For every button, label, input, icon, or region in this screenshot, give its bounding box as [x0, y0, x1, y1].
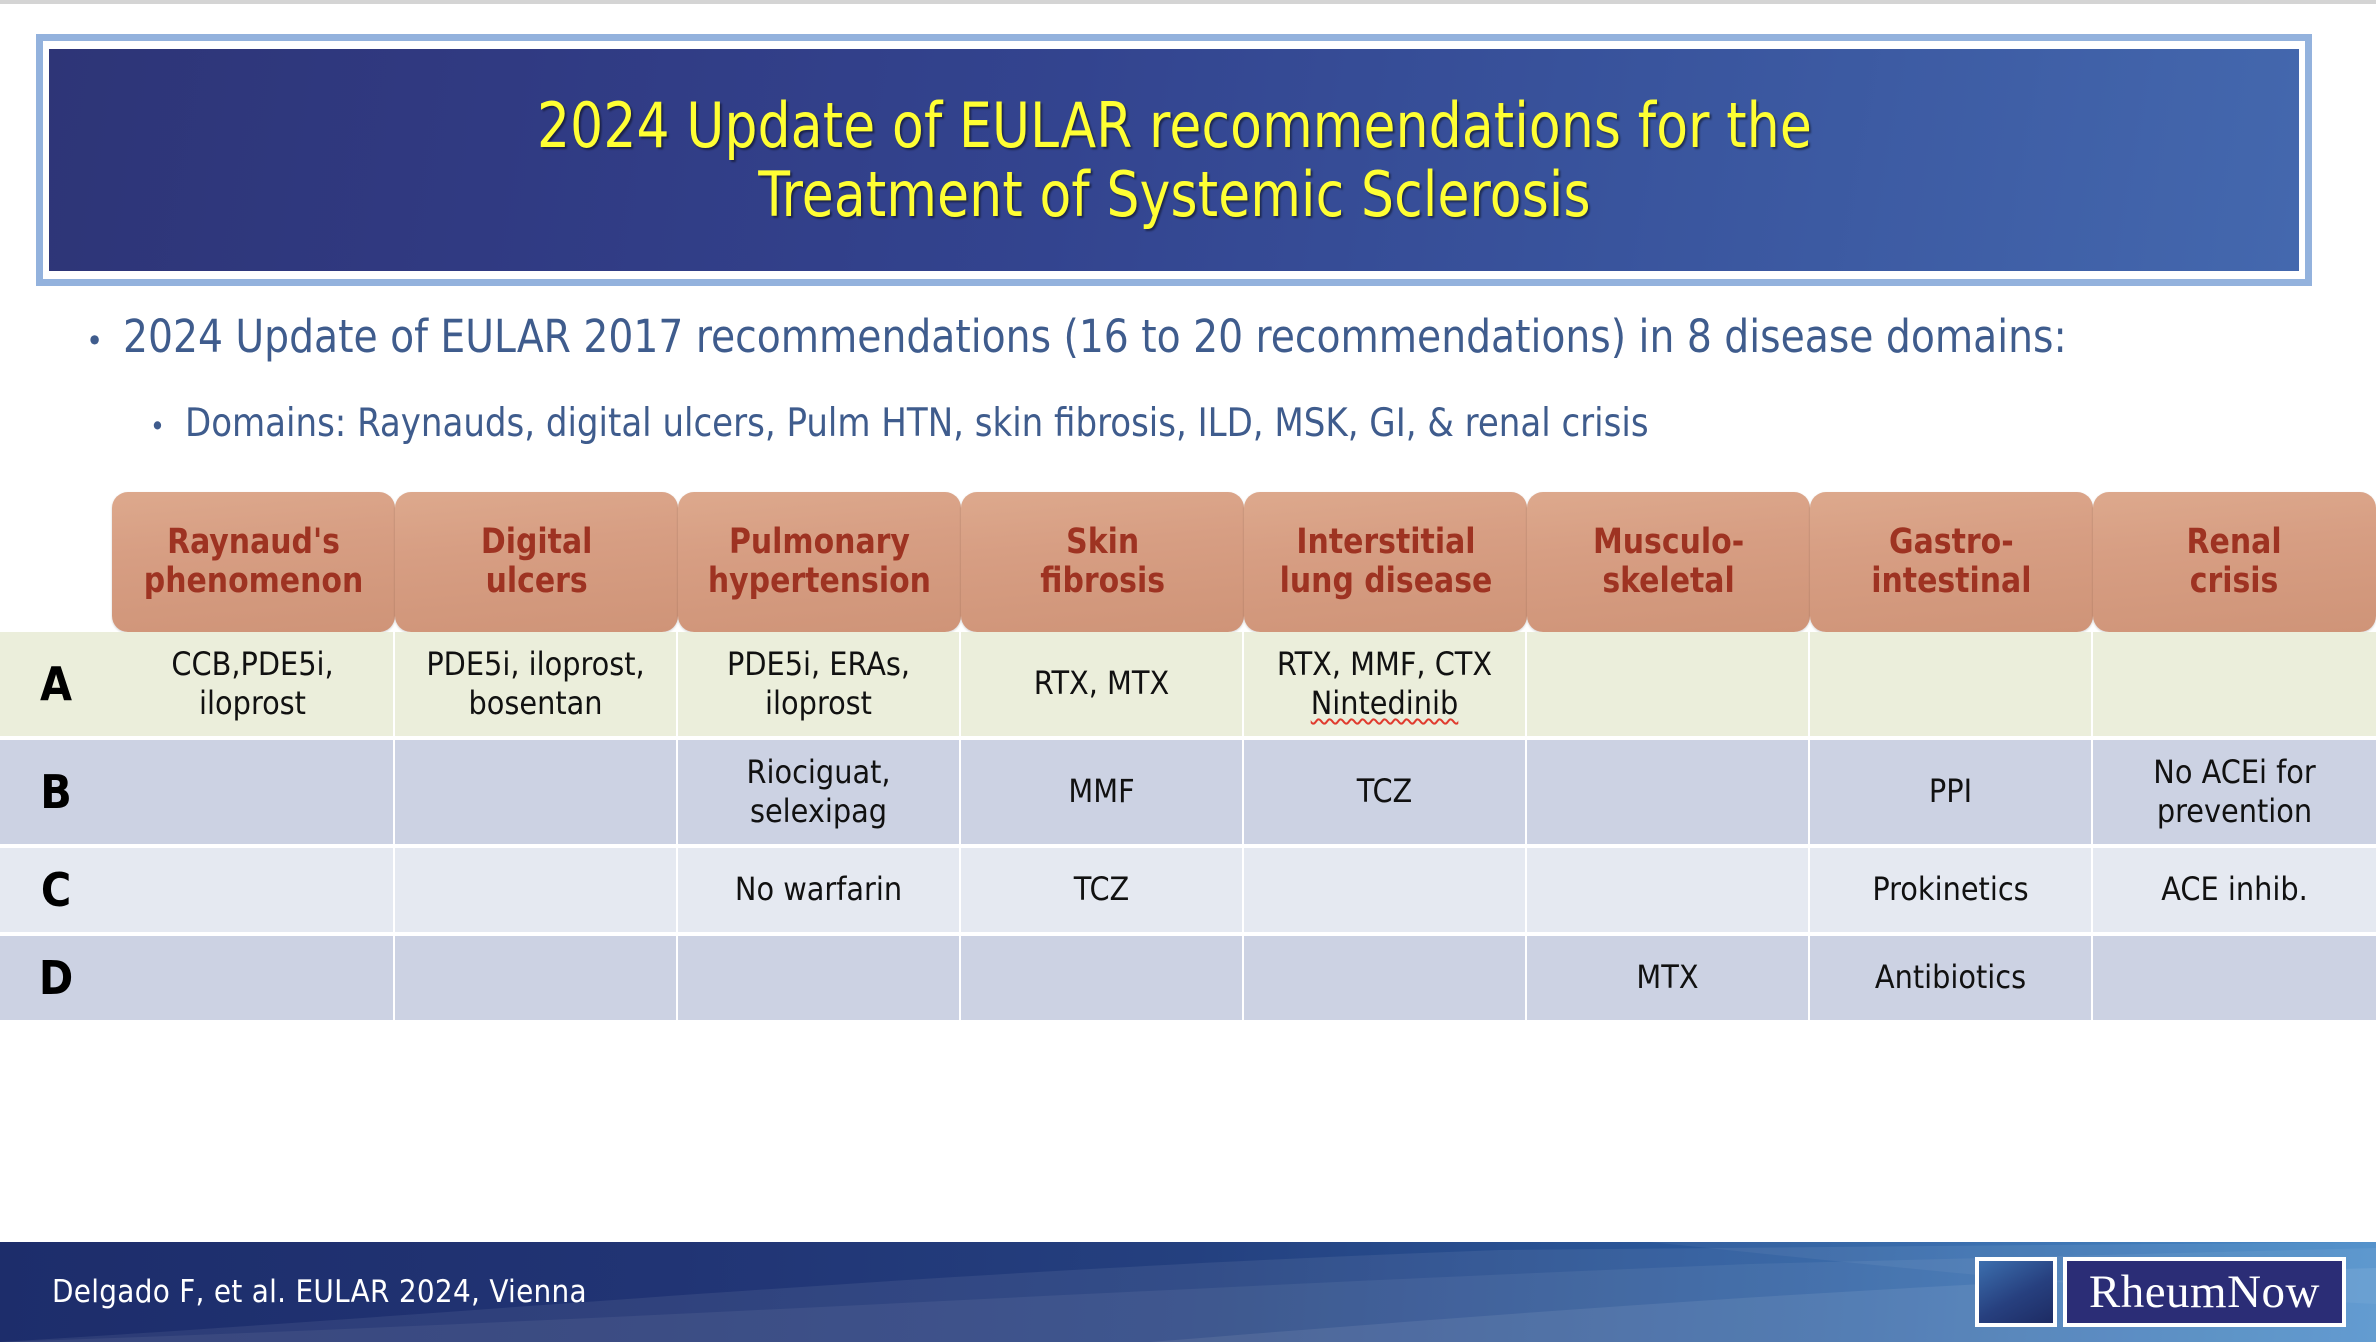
cell-c-renal-crisis: ACE inhib.	[2093, 848, 2376, 936]
column-header-renal-crisis: Renal crisis	[2093, 492, 2376, 632]
title-frame: 2024 Update of EULAR recommendations for…	[36, 34, 2312, 286]
joint-bone-icon-glyph	[1975, 1257, 2376, 1342]
cell-b-gastrointestinal: PPI	[1810, 740, 2093, 848]
cell-c-gastrointestinal: Prokinetics	[1810, 848, 2093, 936]
column-header-pulmonary-hypertension: Pulmonary hypertension	[678, 492, 961, 632]
cell-a-raynauds: CCB,PDE5i, iloprost	[112, 632, 395, 740]
cell-a-gastrointestinal	[1810, 632, 2093, 740]
row-label-c: C	[0, 848, 112, 936]
cell-d-renal-crisis	[2093, 936, 2376, 1024]
cell-b-digital-ulcers	[395, 740, 678, 848]
bullet-text-2: Domains: Raynauds, digital ulcers, Pulm …	[185, 401, 1649, 446]
cell-d-digital-ulcers	[395, 936, 678, 1024]
header-corner-spacer	[0, 492, 112, 632]
row-label-a: A	[0, 632, 112, 740]
slide: 2024 Update of EULAR recommendations for…	[0, 0, 2376, 1342]
cell-a-pulmonary-hypertension: PDE5i, ERAs, iloprost	[678, 632, 961, 740]
column-header-label: Musculo- skeletal	[1593, 523, 1744, 601]
table-row: D MTX Antibiotics	[0, 936, 2376, 1024]
page-title: 2024 Update of EULAR recommendations for…	[536, 91, 1811, 230]
cell-d-pulmonary-hypertension	[678, 936, 961, 1024]
row-label-b: B	[0, 740, 112, 848]
cell-b-raynauds	[112, 740, 395, 848]
bullet-text-1: 2024 Update of EULAR 2017 recommendation…	[123, 310, 2067, 363]
cell-b-renal-crisis: No ACEi for prevention	[2093, 740, 2376, 848]
column-header-label: Pulmonary hypertension	[708, 523, 931, 601]
table-row: B Riociguat, selexipag MMF TCZ PPI No AC…	[0, 740, 2376, 848]
column-header-label: Gastro- intestinal	[1871, 523, 2031, 601]
column-header-label: Raynaud's phenomenon	[144, 523, 363, 601]
top-hairline	[0, 0, 2376, 4]
column-header-musculoskeletal: Musculo- skeletal	[1527, 492, 1810, 632]
misspelled-word: Nintedinib	[1311, 684, 1459, 722]
cell-c-interstitial-lung-disease	[1244, 848, 1527, 936]
cell-c-musculoskeletal	[1527, 848, 1810, 936]
recommendations-table-wrap: Raynaud's phenomenon Digital ulcers Pulm…	[0, 492, 2376, 1024]
cell-c-pulmonary-hypertension: No warfarin	[678, 848, 961, 936]
cell-c-skin-fibrosis: TCZ	[961, 848, 1244, 936]
cell-a-musculoskeletal	[1527, 632, 1810, 740]
column-header-skin-fibrosis: Skin fibrosis	[961, 492, 1244, 632]
column-header-label: Digital ulcers	[481, 523, 592, 601]
cell-d-musculoskeletal: MTX	[1527, 936, 1810, 1024]
row-label-d: D	[0, 936, 112, 1024]
cell-b-interstitial-lung-disease: TCZ	[1244, 740, 1527, 848]
cell-c-raynauds	[112, 848, 395, 936]
cell-a-skin-fibrosis: RTX, MTX	[961, 632, 1244, 740]
cell-b-pulmonary-hypertension: Riociguat, selexipag	[678, 740, 961, 848]
table-row: A CCB,PDE5i, iloprost PDE5i, iloprost, b…	[0, 632, 2376, 740]
cell-b-skin-fibrosis: MMF	[961, 740, 1244, 848]
slide-footer: Delgado F, et al. EULAR 2024, Vienna Rhe…	[0, 1242, 2376, 1342]
cell-a-interstitial-lung-disease: RTX, MMF, CTXNintedinib	[1244, 632, 1527, 740]
rheumnow-logo[interactable]: RheumNow	[1975, 1257, 2346, 1327]
citation-text: Delgado F, et al. EULAR 2024, Vienna	[52, 1274, 587, 1310]
column-header-label: Skin fibrosis	[1040, 523, 1165, 601]
joint-bone-icon	[1975, 1257, 2057, 1327]
table-row: C No warfarin TCZ Prokinetics ACE inhib.	[0, 848, 2376, 936]
cell-c-digital-ulcers	[395, 848, 678, 936]
bullet-dot-icon: •	[150, 413, 165, 441]
cell-d-skin-fibrosis	[961, 936, 1244, 1024]
column-header-gastrointestinal: Gastro- intestinal	[1810, 492, 2093, 632]
cell-d-interstitial-lung-disease	[1244, 936, 1527, 1024]
bullet-item-1: • 2024 Update of EULAR 2017 recommendati…	[86, 310, 2376, 363]
cell-a-renal-crisis	[2093, 632, 2376, 740]
title-banner: 2024 Update of EULAR recommendations for…	[49, 49, 2299, 271]
cell-b-musculoskeletal	[1527, 740, 1810, 848]
column-header-interstitial-lung-disease: Interstitial lung disease	[1244, 492, 1527, 632]
bullet-dot-icon: •	[86, 325, 103, 357]
recommendations-table: Raynaud's phenomenon Digital ulcers Pulm…	[0, 492, 2376, 1024]
column-header-label: Interstitial lung disease	[1279, 523, 1492, 601]
cell-d-raynauds	[112, 936, 395, 1024]
bullet-item-2: • Domains: Raynauds, digital ulcers, Pul…	[150, 401, 2376, 446]
column-header-digital-ulcers: Digital ulcers	[395, 492, 678, 632]
column-header-raynauds: Raynaud's phenomenon	[112, 492, 395, 632]
bullet-list: • 2024 Update of EULAR 2017 recommendati…	[0, 310, 2376, 446]
column-header-label: Renal crisis	[2187, 523, 2282, 601]
cell-d-gastrointestinal: Antibiotics	[1810, 936, 2093, 1024]
cell-a-digital-ulcers: PDE5i, iloprost, bosentan	[395, 632, 678, 740]
table-header-row: Raynaud's phenomenon Digital ulcers Pulm…	[0, 492, 2376, 632]
